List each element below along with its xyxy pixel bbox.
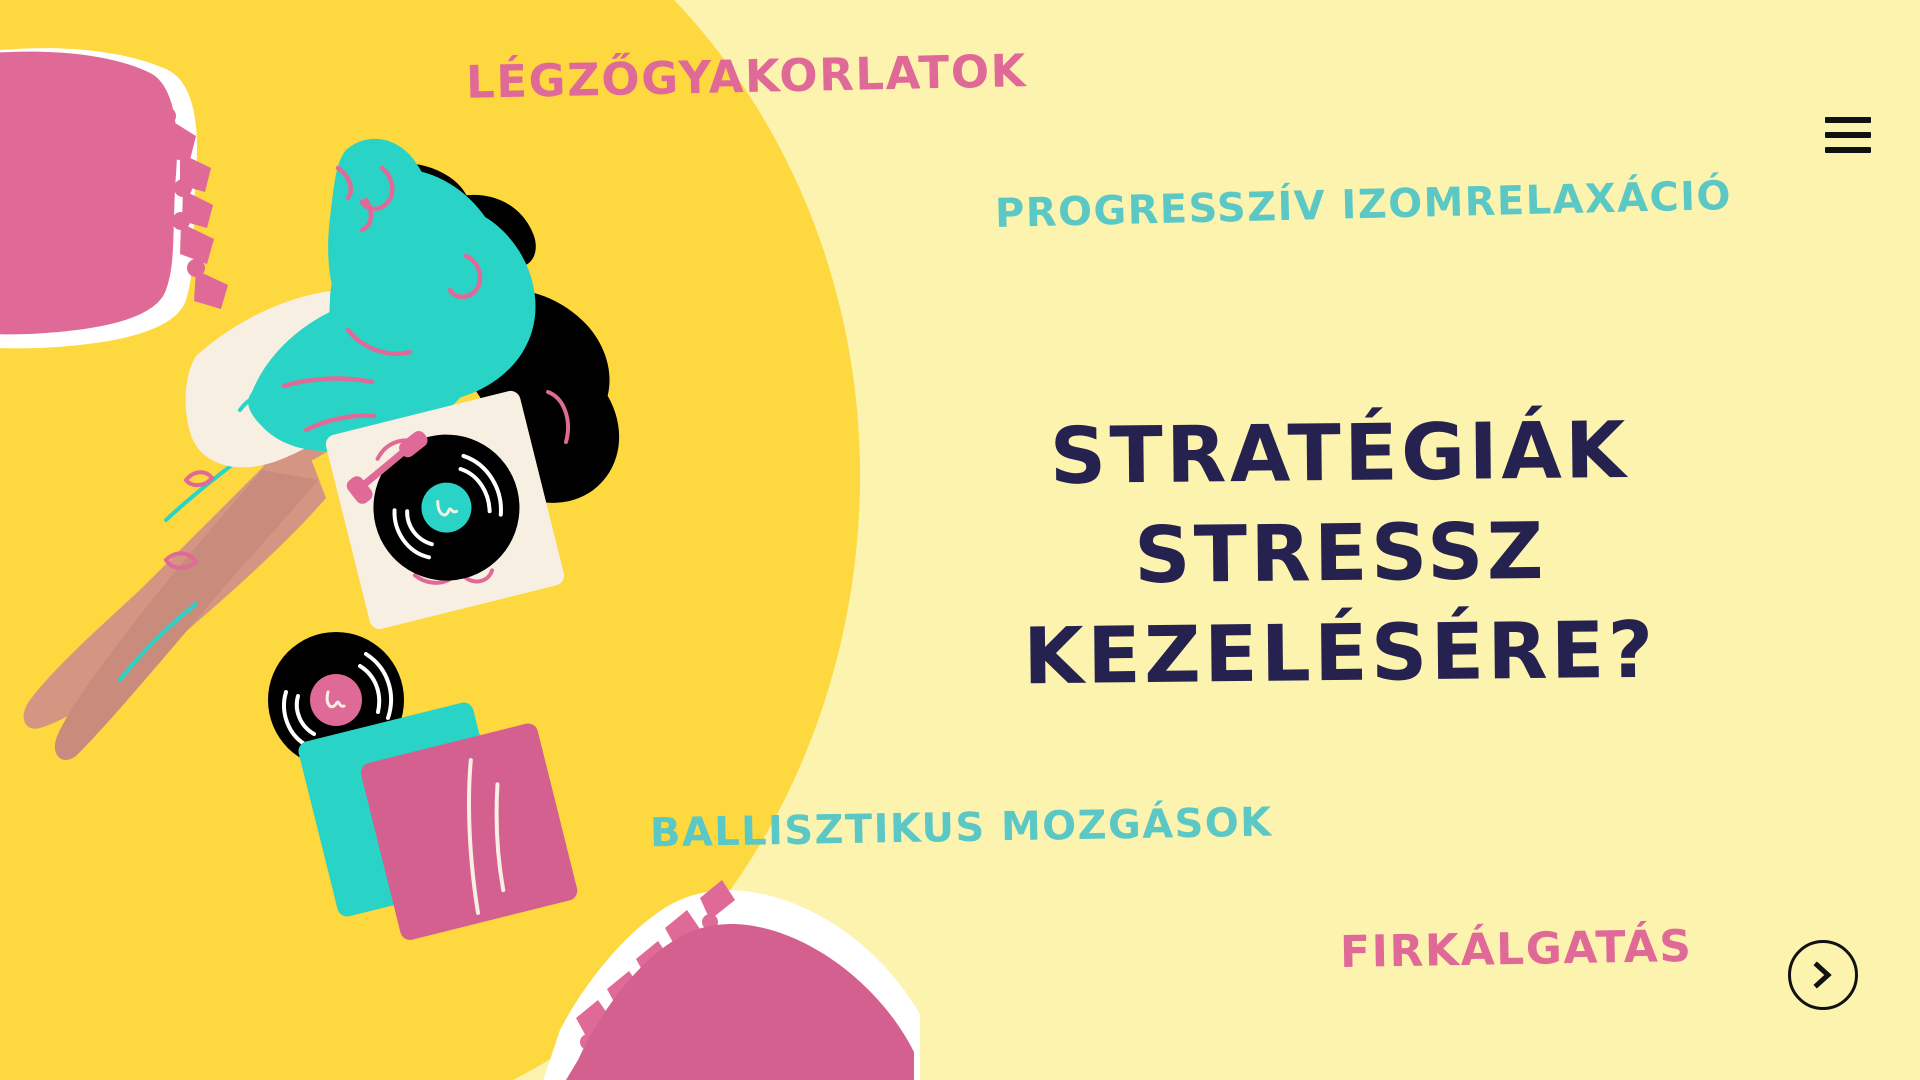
next-slide-button[interactable] — [1788, 940, 1858, 1010]
slide-canvas: LÉGZŐGYAKORLATOK PROGRESSZÍV IZOMRELAXÁC… — [0, 0, 1920, 1080]
label-progressive-muscle-relaxation[interactable]: PROGRESSZÍV IZOMRELAXÁCIÓ — [995, 176, 1733, 234]
menu-bar-middle — [1825, 132, 1871, 138]
chevron-right-icon — [1810, 960, 1836, 990]
label-breathing-exercises[interactable]: LÉGZŐGYAKORLATOK — [466, 48, 1028, 105]
label-ballistic-movements[interactable]: BALLISZTIKUS MOZGÁSOK — [650, 803, 1273, 854]
pink-pillow-top-left — [0, 48, 228, 348]
hamburger-menu-icon[interactable] — [1825, 117, 1871, 153]
page-title-line-1: STRATÉGIÁK STRESSZ — [834, 400, 1846, 610]
menu-bar-bottom — [1825, 147, 1871, 153]
pink-pillow-bottom — [540, 880, 920, 1080]
label-doodling[interactable]: FIRKÁLGATÁS — [1340, 925, 1693, 975]
page-title-line-2: KEZELÉSÉRE? — [835, 599, 1846, 709]
illustration-woman-relaxing — [0, 0, 920, 1080]
menu-bar-top — [1825, 117, 1871, 123]
page-title: STRATÉGIÁK STRESSZ KEZELÉSÉRE? — [835, 405, 1845, 704]
